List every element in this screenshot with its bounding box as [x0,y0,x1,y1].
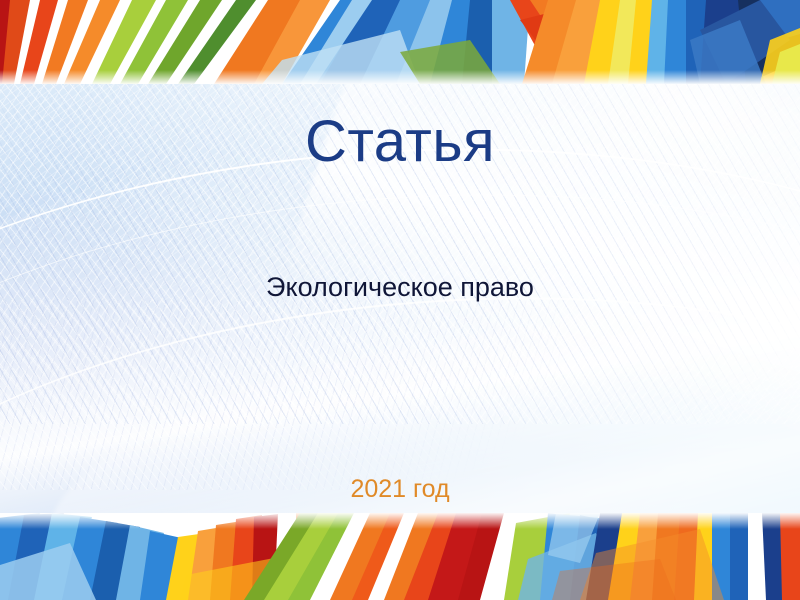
slide-year: 2021 год [0,475,800,504]
top-decorative-band [0,0,800,84]
bottom-decorative-band [0,513,800,600]
top-band-graphic [0,0,800,84]
bottom-band-graphic [0,513,800,600]
presentation-slide: Статья Экологическое право 2021 год [0,0,800,600]
slide-title: Статья [0,112,800,173]
slide-subtitle: Экологическое право [0,272,800,303]
